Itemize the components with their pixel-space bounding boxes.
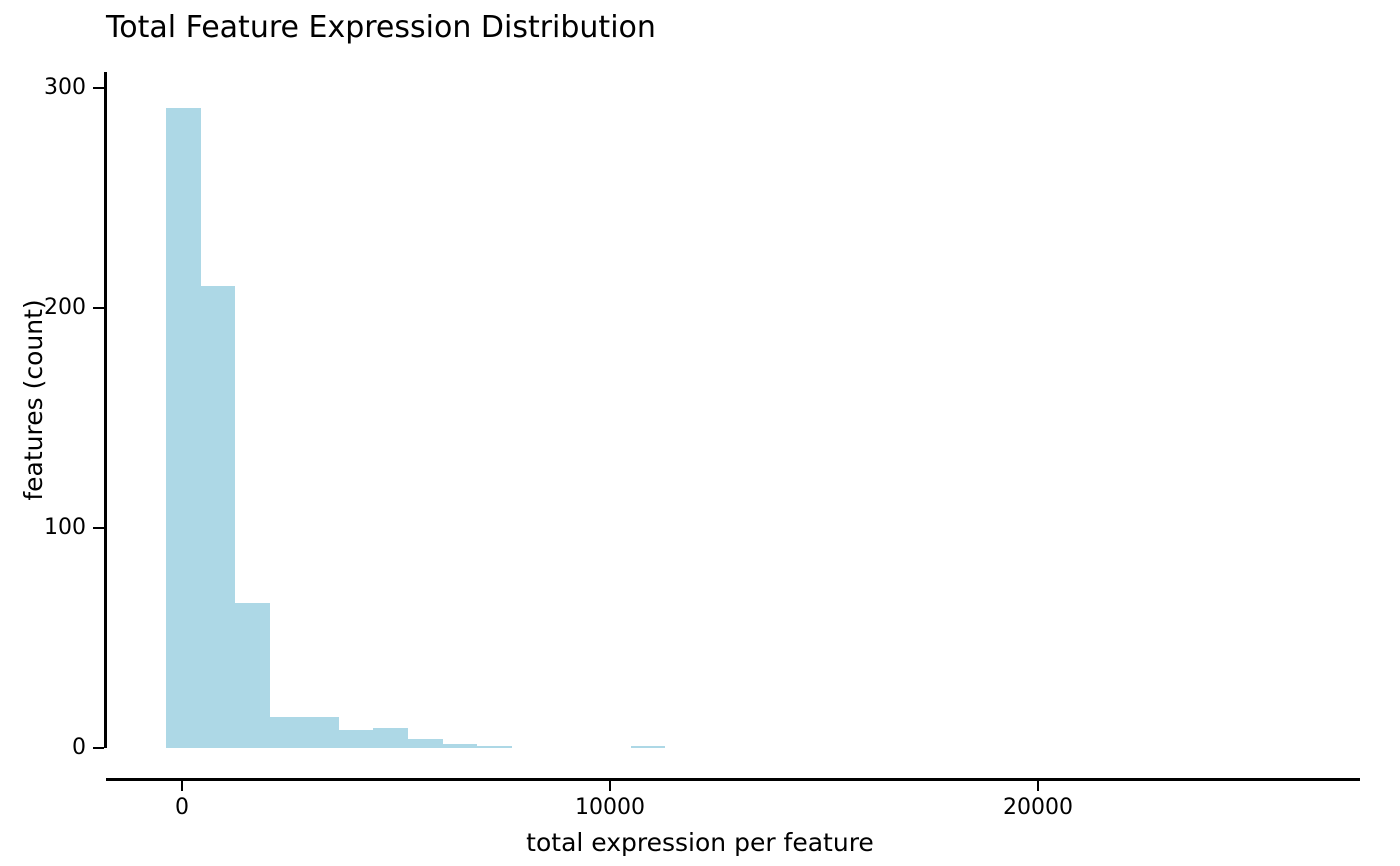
x-tick-label: 20000 <box>1003 796 1073 820</box>
histogram-bar <box>477 746 512 748</box>
y-axis-label: features (count) <box>20 200 48 600</box>
x-tick-mark <box>1037 780 1039 791</box>
histogram-bar <box>270 717 305 748</box>
histogram-bar <box>304 717 339 748</box>
y-tick-mark <box>93 527 104 529</box>
plot-area <box>106 70 1360 748</box>
y-axis-label-wrapper: features (count) <box>0 0 70 800</box>
x-tick-mark <box>609 780 611 791</box>
y-tick-mark <box>93 307 104 309</box>
histogram-bar <box>235 603 270 748</box>
x-tick-label: 0 <box>175 796 189 820</box>
x-axis-spine <box>106 778 1360 781</box>
histogram-figure: Total Feature Expression Distribution 01… <box>0 0 1400 866</box>
histogram-bar <box>166 108 201 748</box>
page-title: Total Feature Expression Distribution <box>106 8 656 48</box>
x-tick-label: 10000 <box>575 796 645 820</box>
histogram-bar <box>339 730 374 748</box>
histogram-bar <box>443 744 478 748</box>
histogram-bar <box>201 286 236 748</box>
y-axis-spine <box>104 72 107 748</box>
x-axis-label: total expression per feature <box>0 828 1400 858</box>
histogram-bar <box>408 739 443 748</box>
y-tick-mark <box>93 87 104 89</box>
histogram-bar <box>631 746 666 748</box>
y-tick-mark <box>93 747 104 749</box>
x-tick-mark <box>181 780 183 791</box>
histogram-bar <box>373 728 408 748</box>
